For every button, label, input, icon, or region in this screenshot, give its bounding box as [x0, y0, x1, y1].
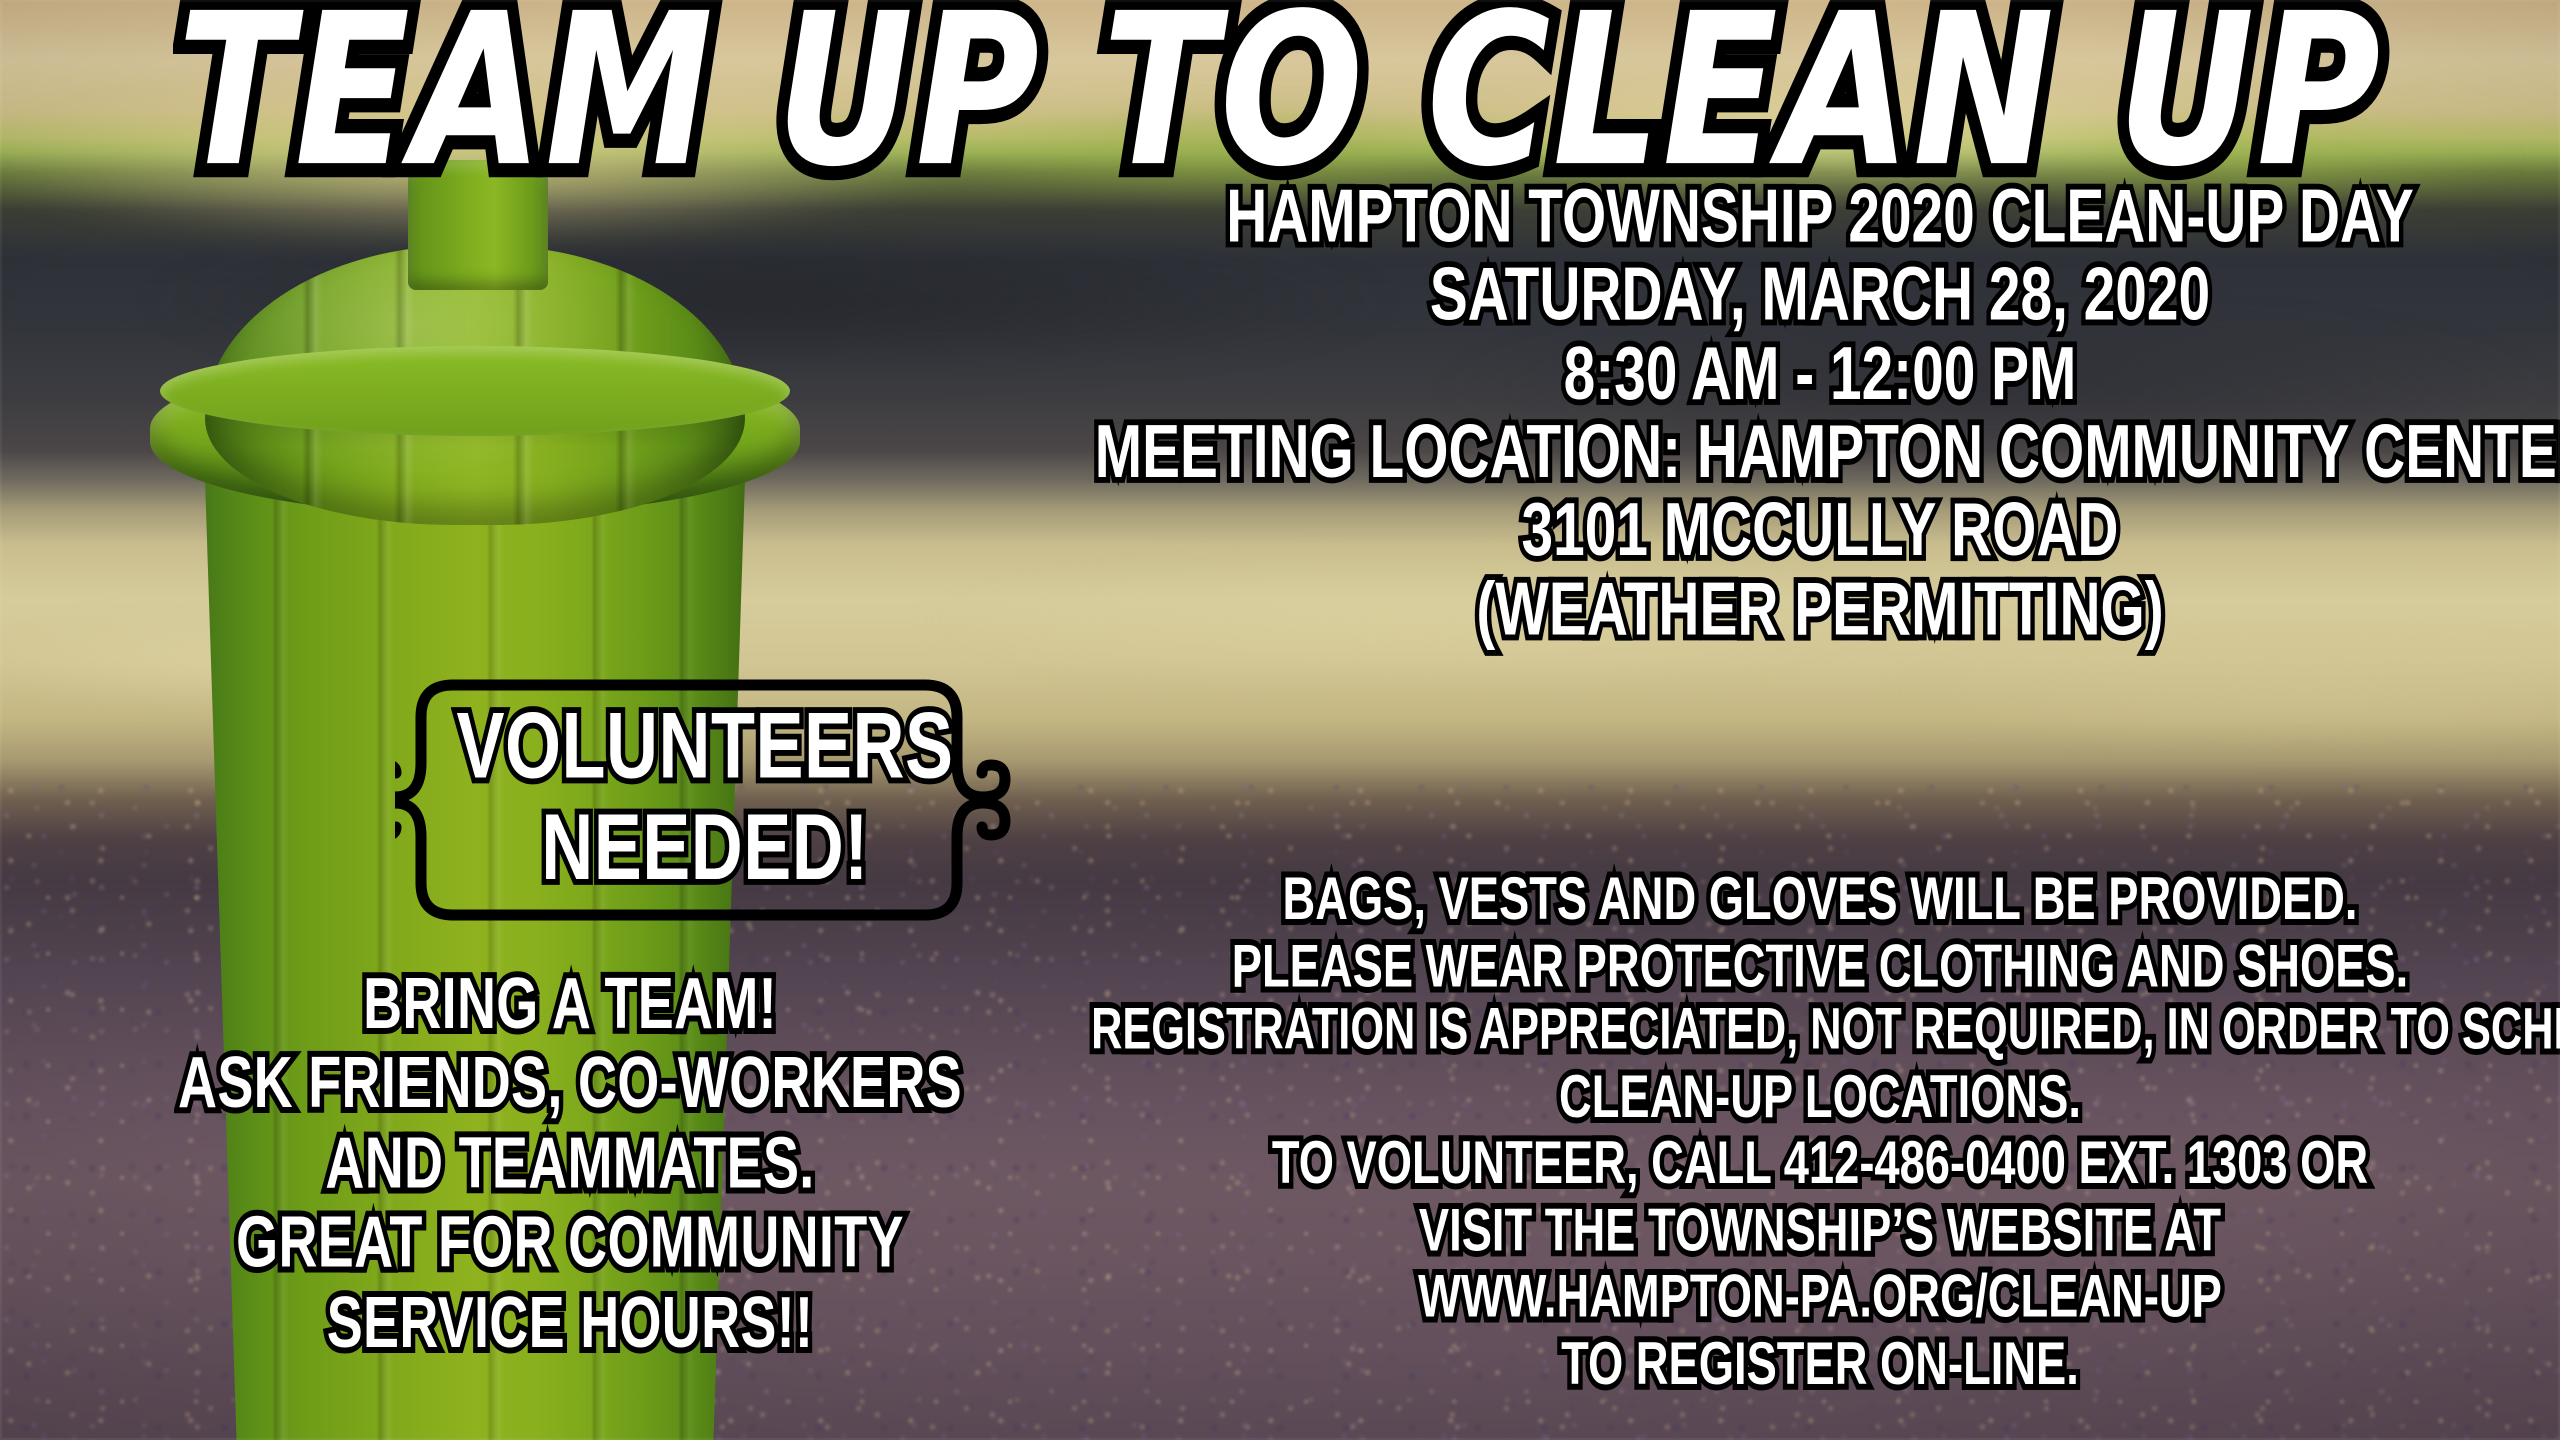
- volunteers-callout-text: VOLUNTEERS NEEDED!: [395, 697, 1015, 899]
- info-line-5: TO VOLUNTEER, CALL 412-486-0400 EXT. 130…: [1091, 1129, 2549, 1196]
- event-line-4: MEETING LOCATION: HAMPTON COMMUNITY CENT…: [1095, 413, 2545, 491]
- callout-line-1: VOLUNTEERS: [395, 697, 1015, 798]
- event-line-6: (WEATHER PERMITTING): [1095, 570, 2545, 648]
- info-line-2: PLEASE WEAR PROTECTIVE CLOTHING AND SHOE…: [1091, 932, 2549, 999]
- team-line-4: GREAT FOR COMMUNITY: [170, 1204, 970, 1284]
- team-line-3: AND TEAMMATES.: [170, 1124, 970, 1204]
- volunteers-callout: VOLUNTEERS NEEDED!: [395, 655, 1015, 945]
- info-line-1: BAGS, VESTS AND GLOVES WILL BE PROVIDED.: [1091, 865, 2549, 932]
- team-line-2: ASK FRIENDS, CO-WORKERS: [170, 1045, 970, 1125]
- volunteer-info-block: BAGS, VESTS AND GLOVES WILL BE PROVIDED.…: [1091, 865, 2549, 1396]
- info-line-4: CLEAN-UP LOCATIONS.: [1091, 1062, 2549, 1129]
- event-details-column: HAMPTON TOWNSHIP 2020 CLEAN-UP DAY SATUR…: [1080, 0, 2560, 1440]
- event-details-block: HAMPTON TOWNSHIP 2020 CLEAN-UP DAY SATUR…: [1095, 178, 2545, 648]
- info-line-3: REGISTRATION IS APPRECIATED, NOT REQUIRE…: [1091, 999, 2549, 1063]
- poster-canvas: TEAM UP TO CLEAN UP VOLUNTEERS: [0, 0, 2560, 1440]
- info-line-8: TO REGISTER ON-LINE.: [1091, 1330, 2549, 1397]
- trash-can-rim-lip: [160, 346, 790, 436]
- team-line-5: SERVICE HOURS!!: [170, 1283, 970, 1363]
- event-line-1: HAMPTON TOWNSHIP 2020 CLEAN-UP DAY: [1095, 178, 2545, 256]
- event-line-3: 8:30 AM - 12:00 PM: [1095, 335, 2545, 413]
- info-line-6: VISIT THE TOWNSHIP’S WEBSITE AT: [1091, 1196, 2549, 1263]
- team-line-1: BRING A TEAM!: [170, 965, 970, 1045]
- team-recruitment-text: BRING A TEAM! ASK FRIENDS, CO-WORKERS AN…: [170, 965, 970, 1363]
- website-url: WWW.HAMPTON-PA.ORG/CLEAN-UP: [1091, 1263, 2549, 1330]
- event-line-2: SATURDAY, MARCH 28, 2020: [1095, 256, 2545, 334]
- event-line-5: 3101 MCCULLY ROAD: [1095, 492, 2545, 570]
- callout-line-2: NEEDED!: [395, 798, 1015, 899]
